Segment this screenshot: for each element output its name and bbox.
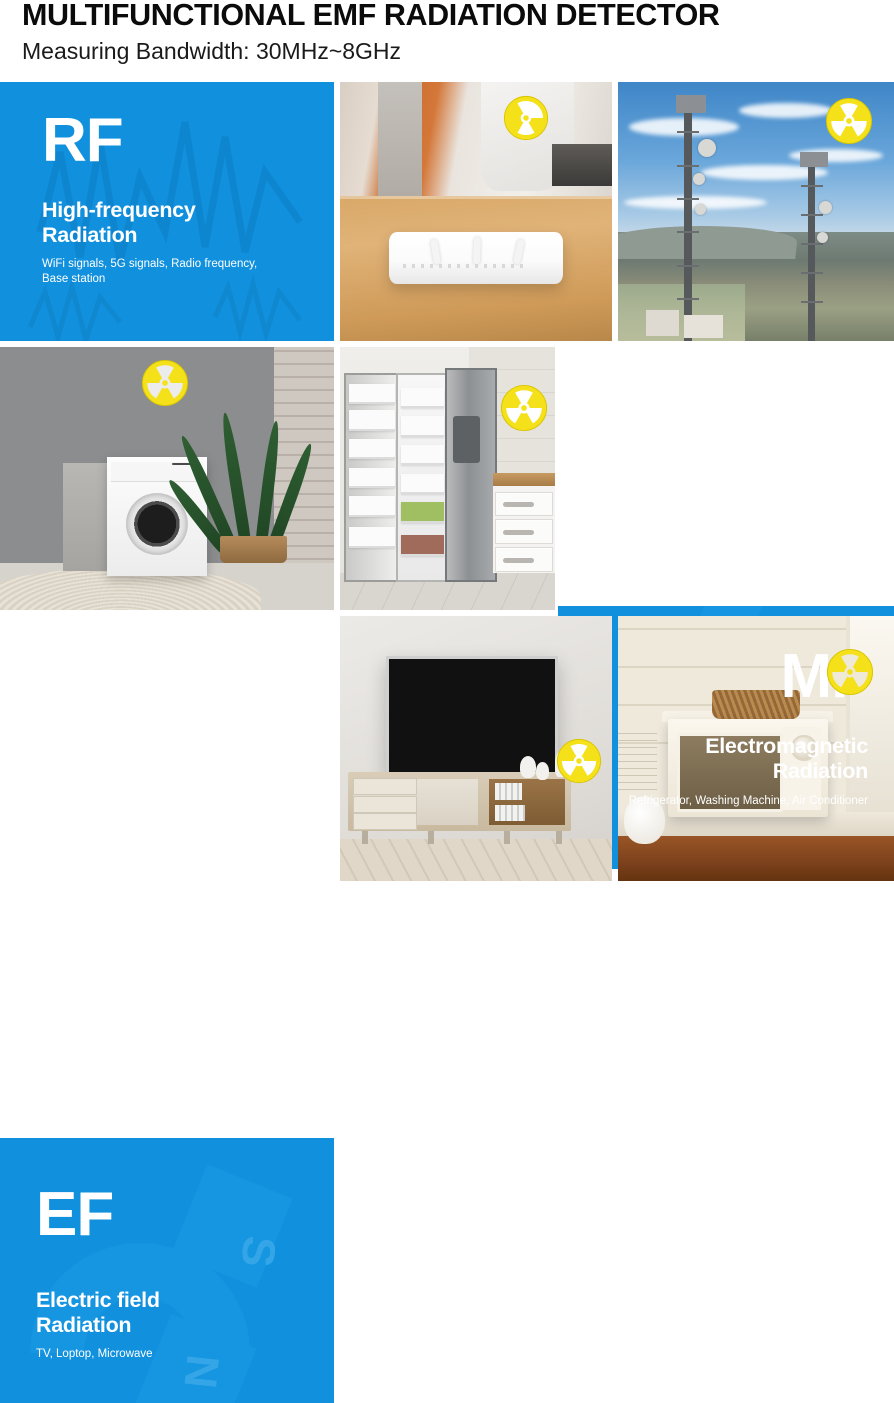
fridge-open-door bbox=[344, 373, 400, 582]
tower-equipment-box bbox=[800, 152, 828, 168]
router-antenna-2 bbox=[473, 237, 481, 264]
header: MULTIFUNCTIONAL EMF RADIATION DETECTOR M… bbox=[0, 0, 894, 80]
decor-vase bbox=[520, 756, 536, 778]
router-device bbox=[389, 232, 563, 284]
radiation-hazard-icon bbox=[503, 95, 549, 141]
panel-rf-abbr: RF bbox=[42, 110, 277, 172]
radiation-hazard-icon bbox=[556, 738, 602, 784]
tower-shed bbox=[684, 315, 723, 338]
panel-ef-abbr: EF bbox=[36, 1184, 160, 1246]
washer-door bbox=[126, 493, 188, 555]
tower-dish bbox=[693, 173, 705, 185]
tv-floor bbox=[340, 839, 612, 881]
panel-ef-description: TV, Loptop, Microwave bbox=[36, 1347, 160, 1362]
tower-equipment-box bbox=[676, 95, 706, 113]
console-shelf bbox=[489, 779, 565, 824]
radiation-hazard-icon bbox=[826, 648, 874, 696]
washer-plant-stand bbox=[220, 536, 287, 562]
photo-tv bbox=[340, 616, 612, 881]
decor-vase bbox=[536, 762, 549, 780]
router-antenna-3 bbox=[513, 239, 525, 265]
photo-towers bbox=[618, 82, 894, 341]
media-console bbox=[348, 772, 571, 830]
photo-router bbox=[340, 82, 612, 341]
tower-mast-right bbox=[808, 160, 815, 341]
console-legs bbox=[348, 831, 571, 844]
radiation-hazard-icon bbox=[500, 384, 548, 432]
emf-detector-infographic: MULTIFUNCTIONAL EMF RADIATION DETECTOR M… bbox=[0, 0, 894, 881]
bandwidth-subtitle: Measuring Bandwidth: 30MHz~8GHz bbox=[22, 38, 401, 64]
panel-rf-description: WiFi signals, 5G signals, Radio frequenc… bbox=[42, 257, 277, 287]
photo-fridge bbox=[340, 347, 555, 610]
panel-ef-heading-line1: Electric field bbox=[36, 1288, 160, 1313]
kitchen-counter bbox=[493, 473, 555, 486]
router-laptop bbox=[552, 144, 612, 185]
radiation-hazard-icon bbox=[825, 97, 873, 145]
magnet-pole-south: S bbox=[231, 1234, 286, 1270]
panel-mf-heading-line2: Radiation bbox=[629, 759, 868, 784]
fridge-water-dispenser bbox=[453, 416, 480, 462]
fridge-interior bbox=[396, 373, 449, 582]
panel-rf-text: RF High-frequency Radiation WiFi signals… bbox=[42, 110, 277, 287]
panel-ef-text: EF Electric field Radiation TV, Loptop, … bbox=[36, 1184, 160, 1362]
washer-plant bbox=[214, 405, 294, 552]
panel-ef-heading-line2: Radiation bbox=[36, 1313, 160, 1338]
tower-dish bbox=[695, 204, 706, 215]
tower-shed bbox=[646, 310, 679, 336]
router-chair bbox=[378, 82, 422, 201]
wooden-counter-edge bbox=[618, 836, 894, 881]
panel-ef: S N EF Electric field Radiation TV, Lopt… bbox=[0, 1138, 334, 1403]
magnet-pole-north: N bbox=[174, 1352, 229, 1390]
tower-dish bbox=[698, 139, 716, 157]
panel-rf-heading-line2: Radiation bbox=[42, 223, 277, 248]
page-title: MULTIFUNCTIONAL EMF RADIATION DETECTOR bbox=[22, 0, 892, 32]
panel-mf-description: Refrigerator, Washing Machine, Air Condi… bbox=[629, 794, 868, 809]
panel-mf-heading-line1: Electromagnetic bbox=[629, 734, 868, 759]
tower-mast-left bbox=[684, 103, 692, 341]
feature-grid: RF High-frequency Radiation WiFi signals… bbox=[0, 82, 894, 881]
panel-rf: RF High-frequency Radiation WiFi signals… bbox=[0, 82, 334, 341]
towers-valley bbox=[618, 284, 745, 341]
radiation-hazard-icon bbox=[141, 359, 189, 407]
router-antenna-1 bbox=[430, 239, 441, 265]
panel-rf-heading-line1: High-frequency bbox=[42, 198, 277, 223]
kitchen-cabinets bbox=[493, 486, 555, 573]
tower-dish bbox=[817, 232, 828, 243]
photo-washer bbox=[0, 347, 334, 610]
fridge-body bbox=[445, 368, 496, 582]
